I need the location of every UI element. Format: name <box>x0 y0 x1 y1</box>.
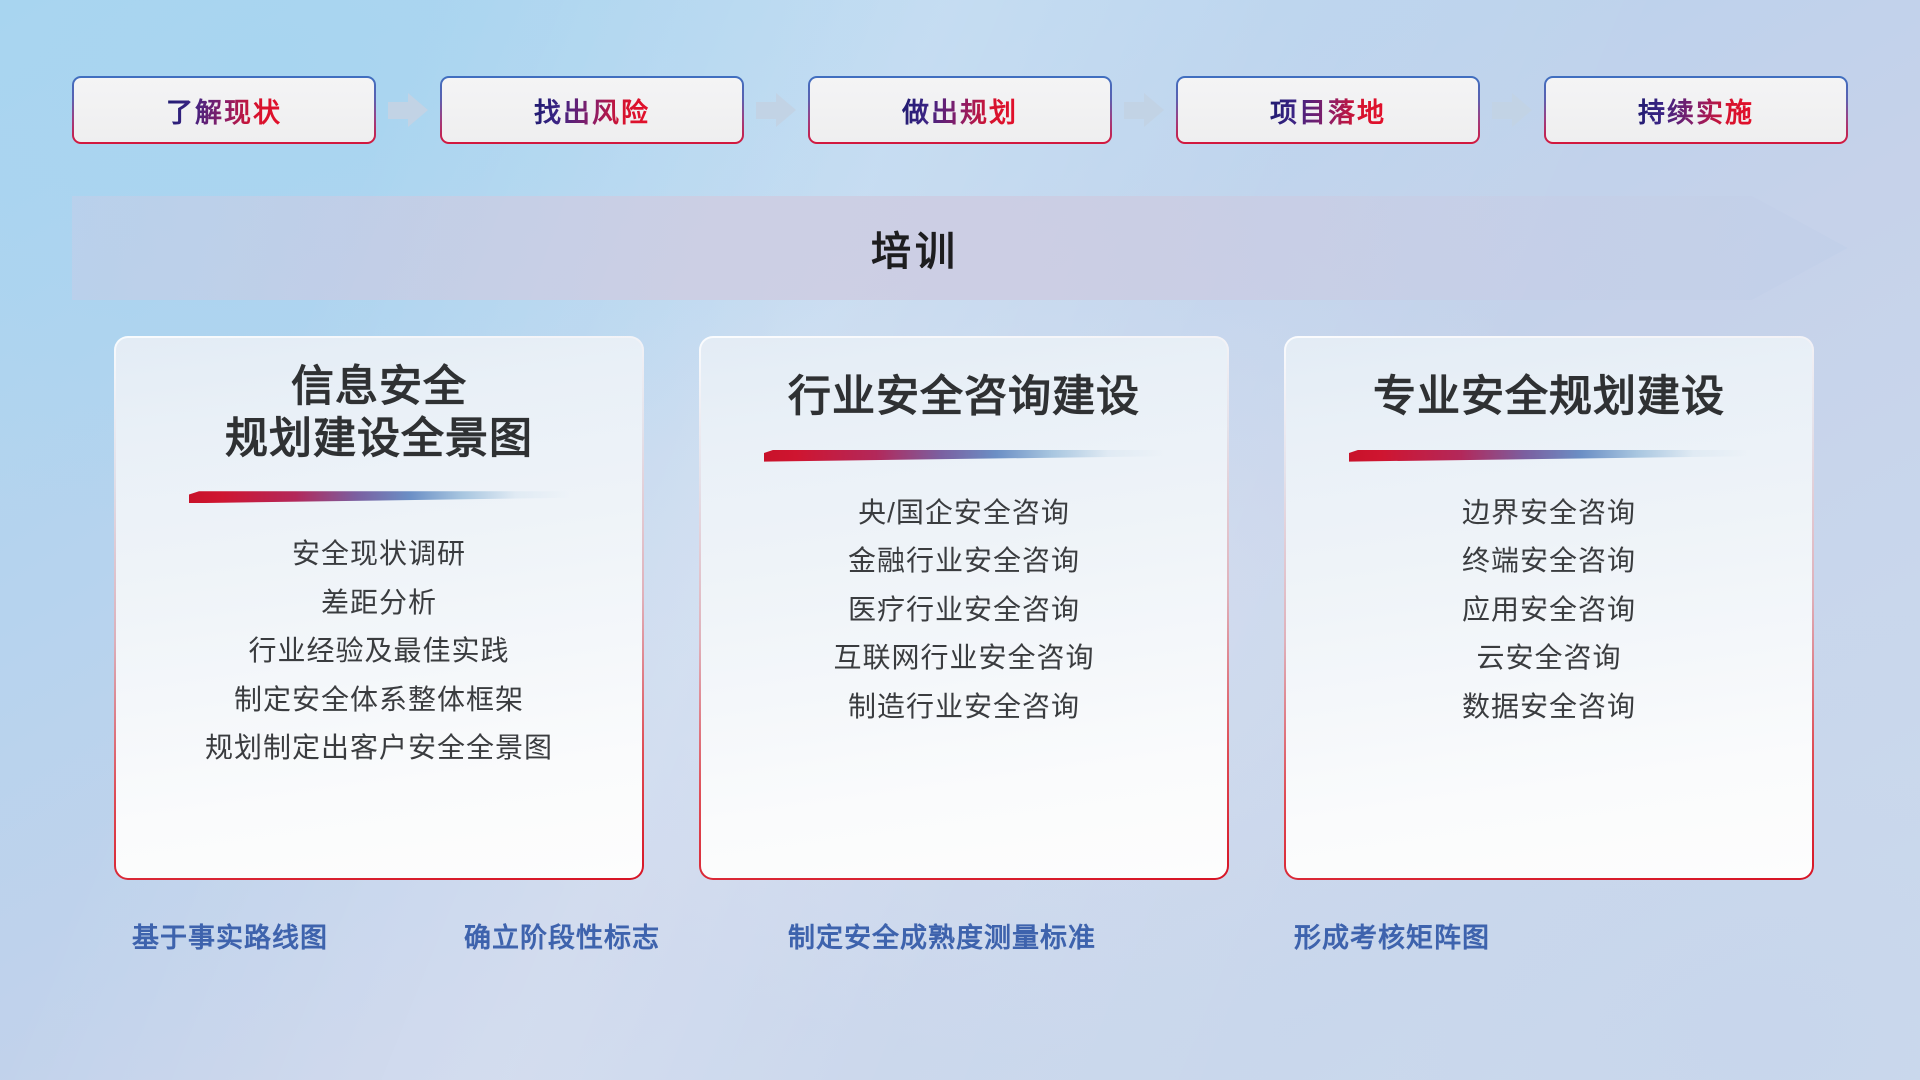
card-title: 专业安全规划建设 <box>1373 372 1725 424</box>
right-arrow-icon <box>756 93 796 127</box>
list-item: 差距分析 <box>321 582 437 625</box>
card-title: 信息安全 规划建设全景图 <box>225 362 533 465</box>
footer-label-1: 基于事实路线图 <box>132 916 328 955</box>
step-label: 找出风险 <box>534 91 650 130</box>
card-item-list: 边界安全咨询 终端安全咨询 应用安全咨询 云安全咨询 数据安全咨询 <box>1462 492 1636 729</box>
right-arrow-icon <box>388 93 428 127</box>
step-label: 了解现状 <box>166 91 282 130</box>
card-item-list: 安全现状调研 差距分析 行业经验及最佳实践 制定安全体系整体框架 规划制定出客户… <box>205 533 553 770</box>
list-item: 安全现状调研 <box>292 533 466 576</box>
banner-title: 培训 <box>72 196 1848 300</box>
card-3[interactable]: 专业安全规划建设 边界安全咨询 终端安全咨询 应用安全咨询 云安全咨询 数据安全… <box>1284 336 1814 880</box>
step-label: 做出规划 <box>902 91 1018 130</box>
list-item: 央/国企安全咨询 <box>858 492 1070 535</box>
footer-label-row: 基于事实路线图 确立阶段性标志 制定安全成熟度测量标准 形成考核矩阵图 <box>0 916 1920 976</box>
list-item: 边界安全咨询 <box>1462 492 1636 535</box>
step-box-4[interactable]: 项目落地 <box>1176 76 1480 144</box>
card-title: 行业安全咨询建设 <box>788 372 1140 424</box>
footer-label-4: 形成考核矩阵图 <box>1294 916 1490 955</box>
right-arrow-icon <box>1124 93 1164 127</box>
step-box-1[interactable]: 了解现状 <box>72 76 376 144</box>
step-label: 项目落地 <box>1270 91 1386 130</box>
right-arrow-icon <box>1492 93 1532 127</box>
list-item: 数据安全咨询 <box>1462 686 1636 729</box>
list-item: 医疗行业安全咨询 <box>848 589 1080 632</box>
list-item: 云安全咨询 <box>1476 637 1621 680</box>
step-box-5[interactable]: 持续实施 <box>1544 76 1848 144</box>
list-item: 规划制定出客户安全全景图 <box>205 727 553 770</box>
step-label: 持续实施 <box>1638 91 1754 130</box>
list-item: 制造行业安全咨询 <box>848 686 1080 729</box>
list-item: 金融行业安全咨询 <box>848 540 1080 583</box>
step-box-2[interactable]: 找出风险 <box>440 76 744 144</box>
footer-label-2: 确立阶段性标志 <box>464 916 660 955</box>
card-divider <box>764 450 1164 462</box>
list-item: 终端安全咨询 <box>1462 540 1636 583</box>
card-1[interactable]: 信息安全 规划建设全景图 安全现状调研 差距分析 行业经验及最佳实践 制定安全体… <box>114 336 644 880</box>
process-step-row: 了解现状 找出风险 做出规划 项目落地 持续实施 <box>72 76 1848 144</box>
card-divider <box>189 491 569 503</box>
step-box-3[interactable]: 做出规划 <box>808 76 1112 144</box>
list-item: 制定安全体系整体框架 <box>234 679 524 722</box>
card-row: 信息安全 规划建设全景图 安全现状调研 差距分析 行业经验及最佳实践 制定安全体… <box>114 336 1814 880</box>
list-item: 互联网行业安全咨询 <box>833 637 1094 680</box>
list-item: 应用安全咨询 <box>1462 589 1636 632</box>
card-2[interactable]: 行业安全咨询建设 央/国企安全咨询 金融行业安全咨询 医疗行业安全咨询 互联网行… <box>699 336 1229 880</box>
card-item-list: 央/国企安全咨询 金融行业安全咨询 医疗行业安全咨询 互联网行业安全咨询 制造行… <box>833 492 1094 729</box>
list-item: 行业经验及最佳实践 <box>248 630 509 673</box>
card-divider <box>1349 450 1749 462</box>
footer-label-3: 制定安全成熟度测量标准 <box>788 916 1096 955</box>
training-banner: 培训 <box>72 196 1848 300</box>
